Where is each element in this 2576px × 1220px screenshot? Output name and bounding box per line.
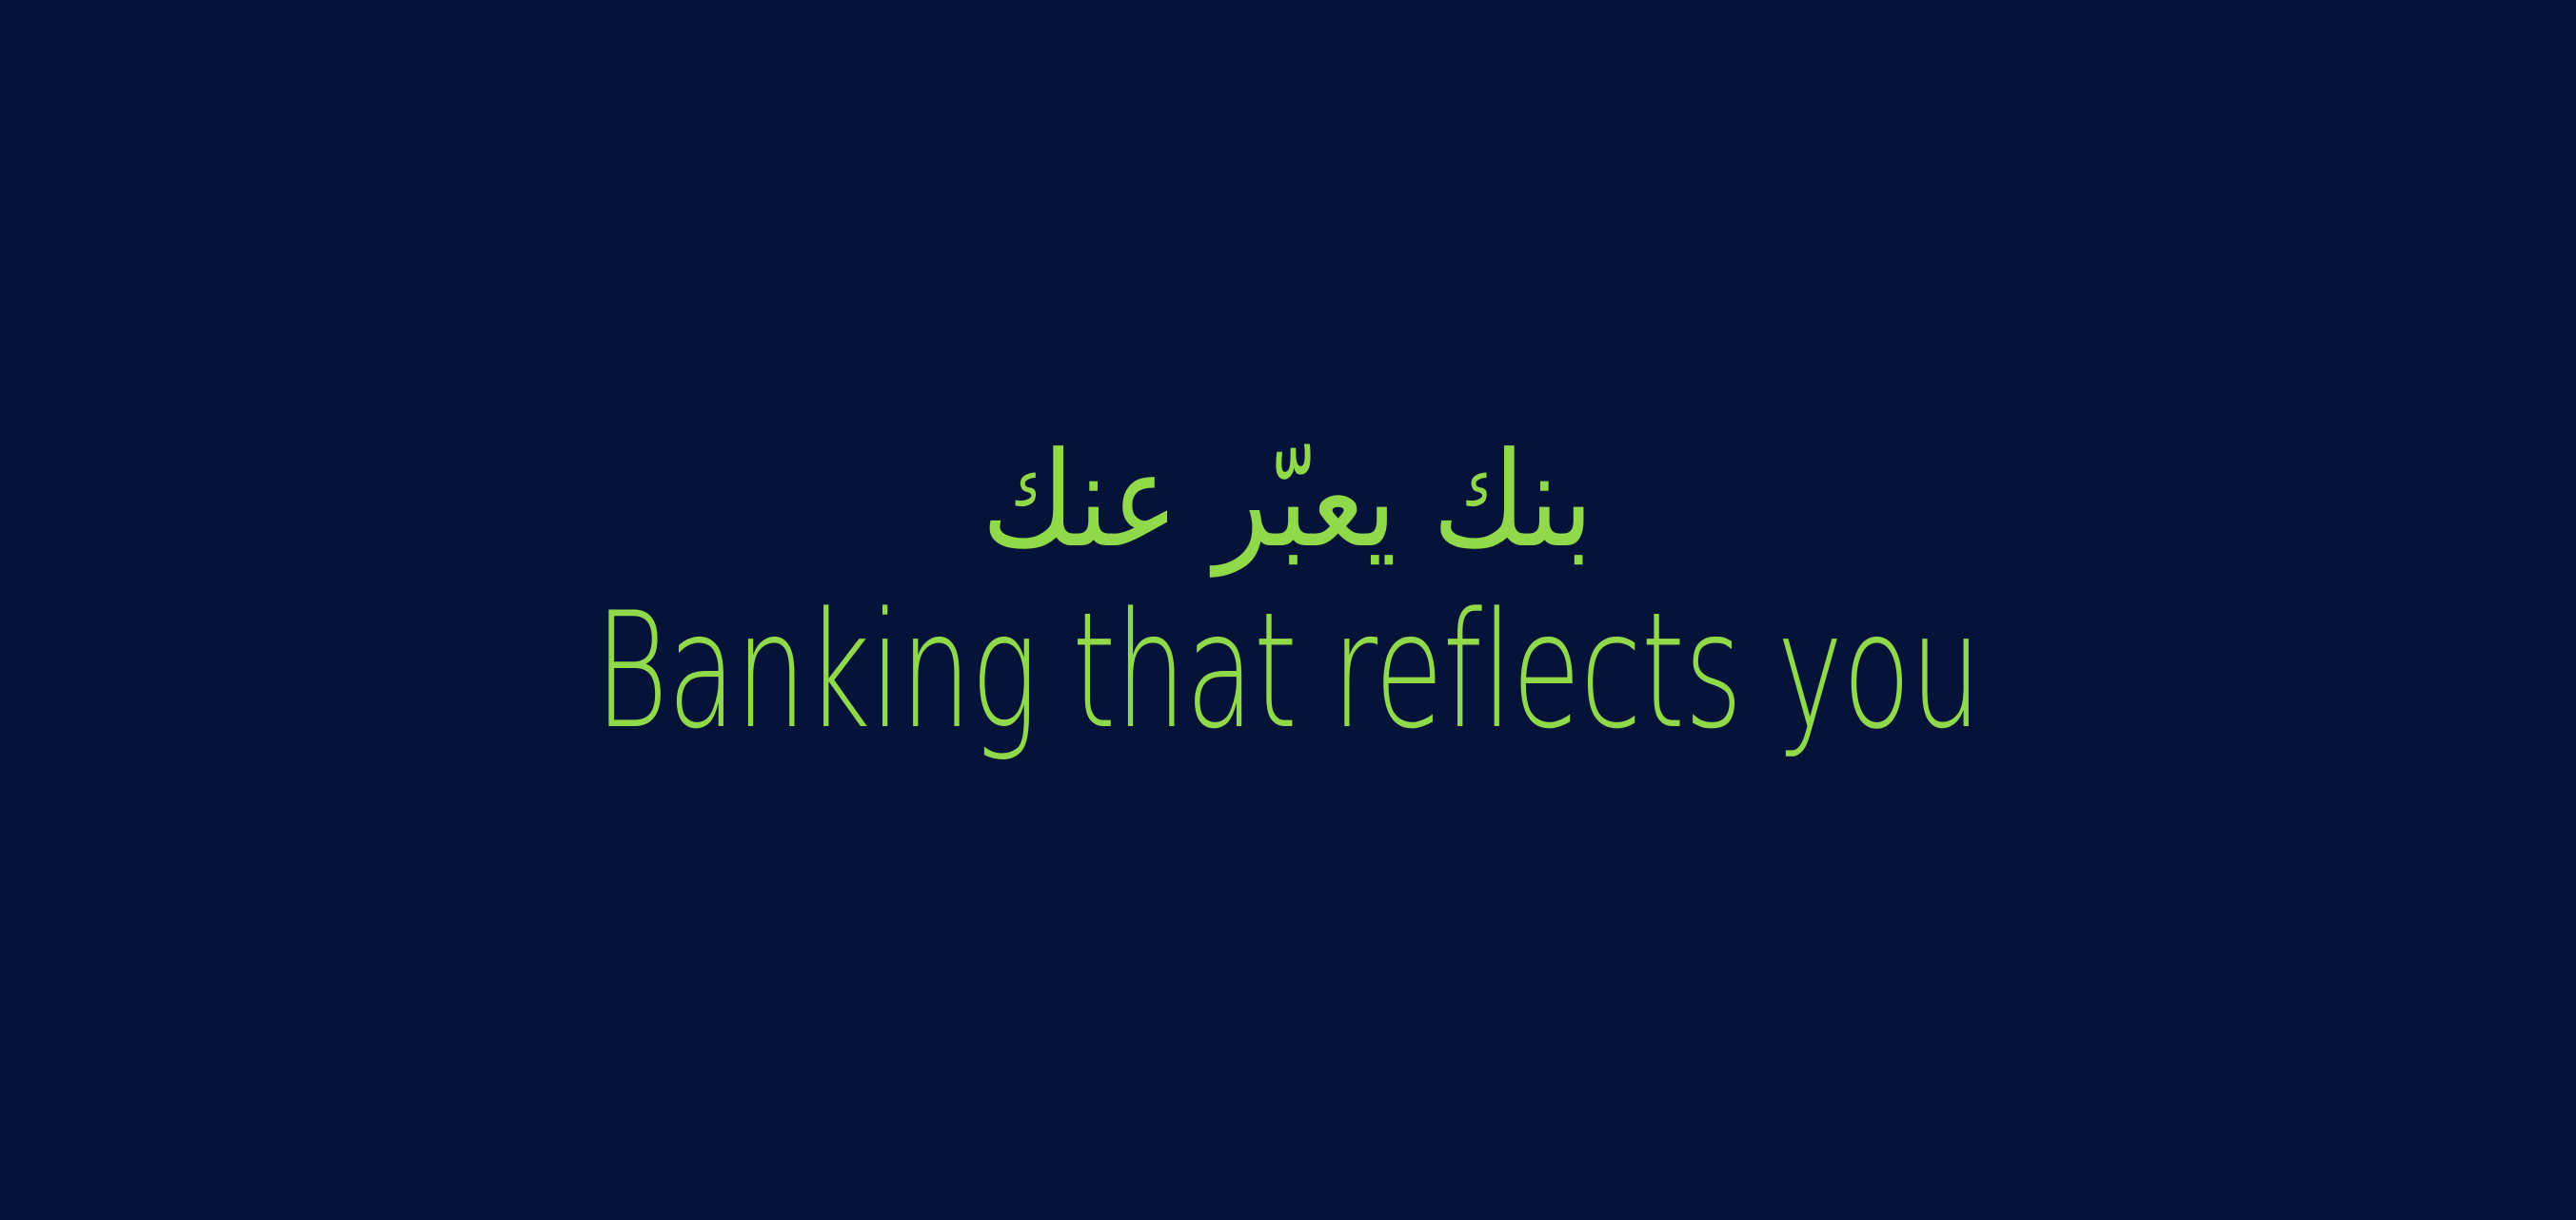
- tagline-arabic: بنك يعبّر عنك: [982, 435, 1595, 566]
- brand-tagline-slide: بنك يعبّر عنك Banking that reflects you: [0, 0, 2576, 1220]
- tagline-block: بنك يعبّر عنك Banking that reflects you: [0, 435, 2576, 751]
- tagline-english: Banking that reflects you: [595, 591, 1981, 751]
